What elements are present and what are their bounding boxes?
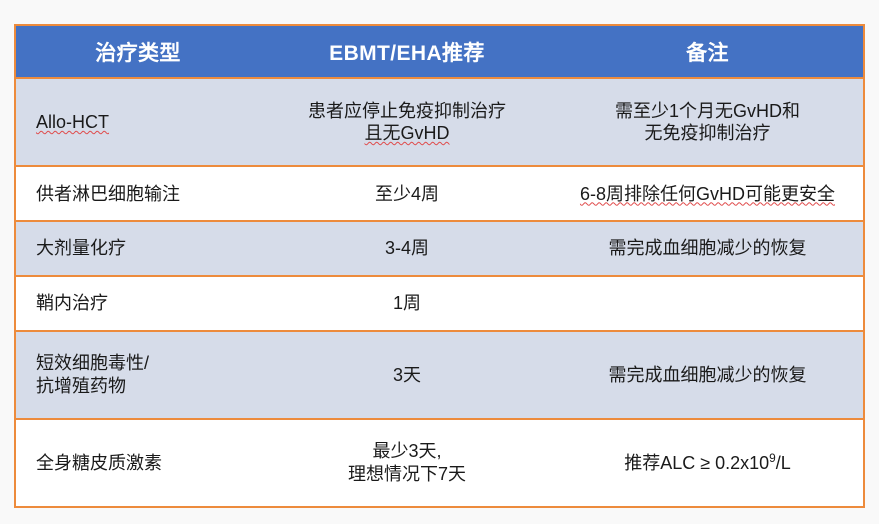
- recommendation-line-1: 患者应停止免疫抑制治疗: [270, 100, 544, 123]
- treatment-type-text: Allo-HCT: [36, 111, 254, 134]
- column-header-notes: 备注: [552, 26, 863, 78]
- column-header-treatment-type: 治疗类型: [16, 26, 262, 78]
- cell-recommendation: 患者应停止免疫抑制治疗 且无GvHD: [262, 78, 552, 166]
- cell-recommendation: 3天: [262, 331, 552, 419]
- treatment-type-text: 全身糖皮质激素: [36, 452, 254, 475]
- cell-notes-empty: [552, 276, 863, 331]
- notes-line-1: [560, 303, 855, 304]
- treatment-type-text: 鞘内治疗: [36, 292, 254, 315]
- recommendation-line-2: 且无GvHD: [270, 122, 544, 145]
- notes-line-1: 6-8周排除任何GvHD可能更安全: [560, 183, 855, 206]
- recommendation-line-1: 1周: [270, 292, 544, 315]
- table-row: 大剂量化疗 3-4周 需完成血细胞减少的恢复: [16, 221, 863, 276]
- cell-notes: 6-8周排除任何GvHD可能更安全: [552, 166, 863, 221]
- table-row: 短效细胞毒性/ 抗增殖药物 3天 需完成血细胞减少的恢复: [16, 331, 863, 419]
- cell-notes-alc: 推荐ALC ≥ 0.2x109/L: [552, 419, 863, 506]
- recommendation-line-1: 3-4周: [270, 237, 544, 260]
- alc-suffix: /L: [776, 453, 791, 473]
- table-header: 治疗类型 EBMT/EHA推荐 备注: [16, 26, 863, 78]
- treatment-washout-table: 治疗类型 EBMT/EHA推荐 备注 Allo-HCT 患者应停止免疫抑制治疗 …: [16, 26, 863, 506]
- cell-notes: 需完成血细胞减少的恢复: [552, 221, 863, 276]
- table-row: 供者淋巴细胞输注 至少4周 6-8周排除任何GvHD可能更安全: [16, 166, 863, 221]
- table-body: Allo-HCT 患者应停止免疫抑制治疗 且无GvHD 需至少1个月无GvHD和…: [16, 78, 863, 506]
- column-header-ebmt-eha-recommendation: EBMT/EHA推荐: [262, 26, 552, 78]
- cell-treatment-type: 供者淋巴细胞输注: [16, 166, 262, 221]
- alc-prefix: 推荐ALC ≥ 0.2x10: [624, 453, 769, 473]
- cell-recommendation: 1周: [262, 276, 552, 331]
- recommendation-line-1: 至少4周: [270, 183, 544, 206]
- notes-line-2: 无免疫抑制治疗: [560, 122, 855, 145]
- header-row: 治疗类型 EBMT/EHA推荐 备注: [16, 26, 863, 78]
- cell-notes: 需完成血细胞减少的恢复: [552, 331, 863, 419]
- recommendation-line-1: 3天: [270, 364, 544, 387]
- cell-treatment-type: 短效细胞毒性/ 抗增殖药物: [16, 331, 262, 419]
- notes-line-1: 需完成血细胞减少的恢复: [560, 364, 855, 387]
- cell-treatment-type: Allo-HCT: [16, 78, 262, 166]
- notes-line-1: 需完成血细胞减少的恢复: [560, 237, 855, 260]
- recommendation-line-1: 最少3天,: [270, 440, 544, 463]
- cell-recommendation: 最少3天, 理想情况下7天: [262, 419, 552, 506]
- cell-treatment-type: 全身糖皮质激素: [16, 419, 262, 506]
- table-row: Allo-HCT 患者应停止免疫抑制治疗 且无GvHD 需至少1个月无GvHD和…: [16, 78, 863, 166]
- treatment-type-text: 供者淋巴细胞输注: [36, 183, 254, 206]
- recommendation-line-2: 理想情况下7天: [270, 463, 544, 486]
- cell-recommendation: 至少4周: [262, 166, 552, 221]
- treatment-type-line-2: 抗增殖药物: [36, 375, 254, 398]
- alc-exponent: 9: [769, 451, 776, 465]
- treatment-washout-table-container: 治疗类型 EBMT/EHA推荐 备注 Allo-HCT 患者应停止免疫抑制治疗 …: [14, 24, 865, 508]
- cell-recommendation: 3-4周: [262, 221, 552, 276]
- table-row: 全身糖皮质激素 最少3天, 理想情况下7天 推荐ALC ≥ 0.2x109/L: [16, 419, 863, 506]
- table-row: 鞘内治疗 1周: [16, 276, 863, 331]
- cell-treatment-type: 大剂量化疗: [16, 221, 262, 276]
- alc-threshold-text: 推荐ALC ≥ 0.2x109/L: [560, 452, 855, 475]
- cell-notes: 需至少1个月无GvHD和 无免疫抑制治疗: [552, 78, 863, 166]
- notes-line-1: 需至少1个月无GvHD和: [560, 100, 855, 123]
- cell-treatment-type: 鞘内治疗: [16, 276, 262, 331]
- treatment-type-text: 大剂量化疗: [36, 237, 254, 260]
- treatment-type-line-1: 短效细胞毒性/: [36, 352, 254, 375]
